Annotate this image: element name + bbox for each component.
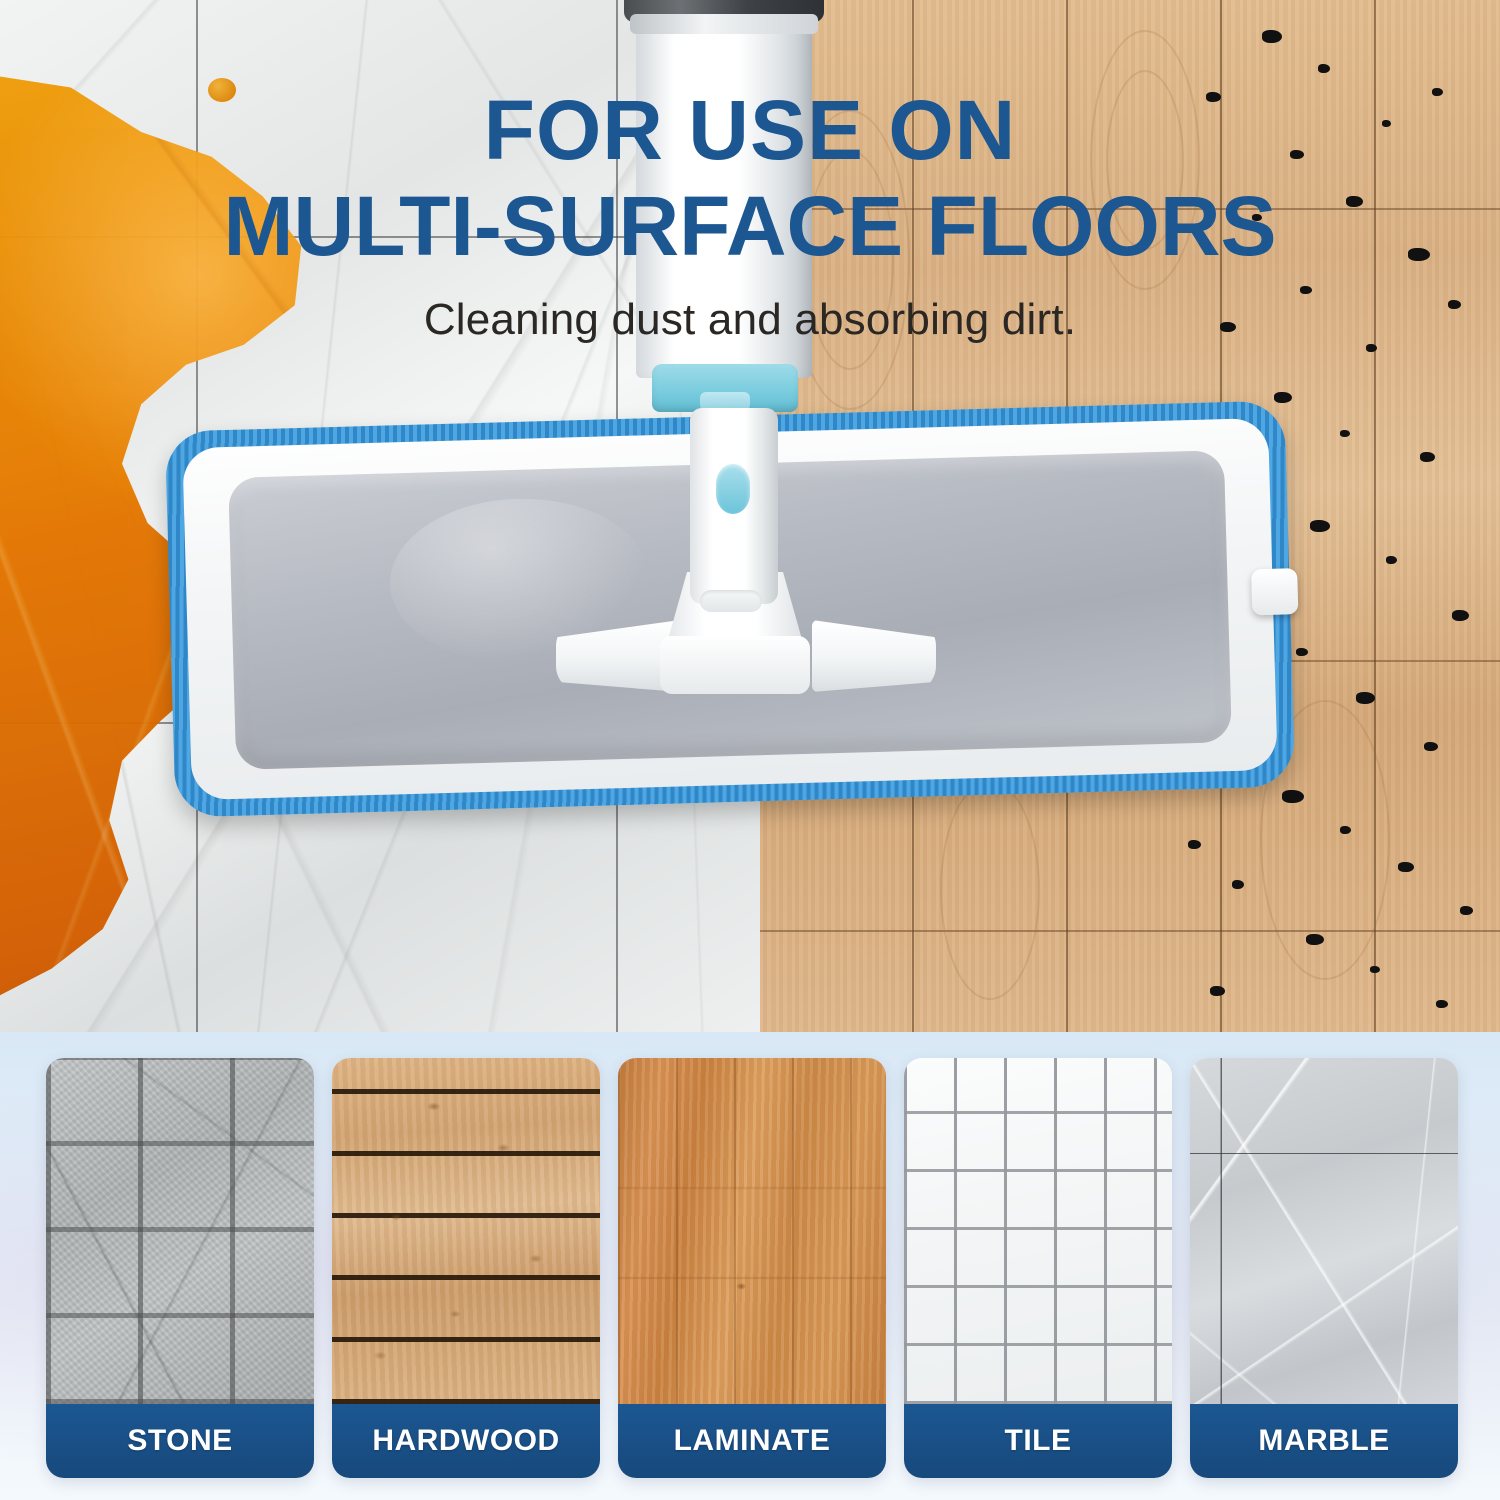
surface-card-laminate[interactable]: LAMINATE [618, 1058, 886, 1478]
mop-connector-slot [700, 590, 762, 612]
product-banner: FOR USE ON MULTI-SURFACE FLOORS Cleaning… [0, 0, 1500, 1500]
tile-texture-image [904, 1058, 1172, 1404]
surface-label-stone: STONE [46, 1404, 314, 1478]
surface-card-marble[interactable]: MARBLE [1190, 1058, 1458, 1478]
laminate-texture-image [618, 1058, 886, 1404]
surface-label-laminate: LAMINATE [618, 1404, 886, 1478]
surface-card-tile[interactable]: TILE [904, 1058, 1172, 1478]
surface-label-hardwood: HARDWOOD [332, 1404, 600, 1478]
hardwood-texture-image [332, 1058, 600, 1404]
surface-card-stone[interactable]: STONE [46, 1058, 314, 1478]
mop-pad-tab [1251, 568, 1298, 615]
stone-texture-image [46, 1058, 314, 1404]
mop-connector-bar [660, 636, 810, 694]
mop-handle-collar [630, 14, 818, 34]
marble-texture-image [1190, 1058, 1458, 1404]
surface-card-hardwood[interactable]: HARDWOOD [332, 1058, 600, 1478]
surface-types-panel: STONE HARDWOOD LAMINATE TILE MARBLE [0, 1032, 1500, 1500]
surface-card-list: STONE HARDWOOD LAMINATE TILE MARBLE [46, 1058, 1458, 1478]
surface-label-tile: TILE [904, 1404, 1172, 1478]
mop-product [0, 0, 1500, 1032]
mop-handle-pole [636, 0, 812, 378]
hero-image: FOR USE ON MULTI-SURFACE FLOORS Cleaning… [0, 0, 1500, 1032]
mop-release-button[interactable] [716, 464, 750, 514]
surface-label-marble: MARBLE [1190, 1404, 1458, 1478]
